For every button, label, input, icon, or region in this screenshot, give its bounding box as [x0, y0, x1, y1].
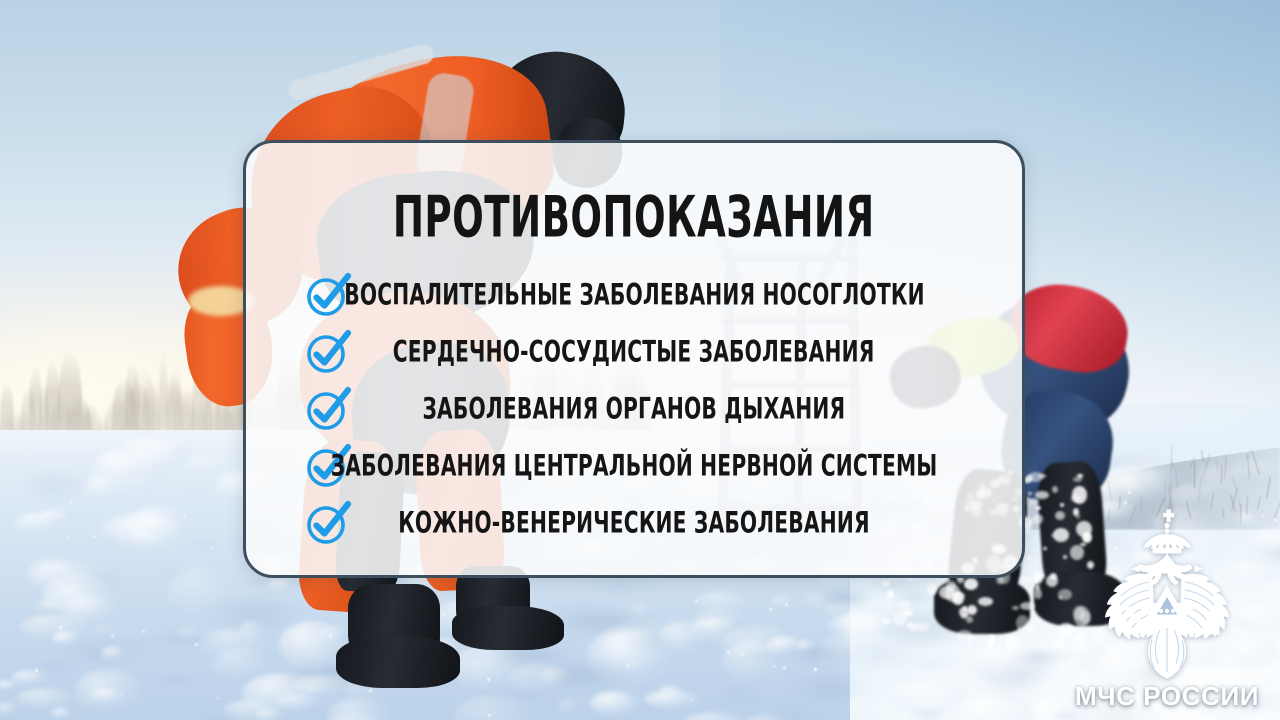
check-circle-icon — [304, 385, 352, 433]
check-circle-icon — [304, 499, 352, 547]
emercom-logo: МЧС РОССИИ — [1072, 477, 1262, 712]
list-item-label: ЗАБОЛЕВАНИЯ ЦЕНТРАЛЬНОЙ НЕРВНОЙ СИСТЕМЫ — [331, 451, 938, 481]
list-item: ЗАБОЛЕВАНИЯ ЦЕНТРАЛЬНОЙ НЕРВНОЙ СИСТЕМЫ — [272, 437, 996, 494]
contraindications-list: ВОСПАЛИТЕЛЬНЫЕ ЗАБОЛЕВАНИЯ НОСОГЛОТКИСЕР… — [272, 266, 996, 551]
list-item: СЕРДЕЧНО-СОСУДИСТЫЕ ЗАБОЛЕВАНИЯ — [272, 323, 996, 380]
emercom-double-headed-eagle-emblem — [1092, 504, 1242, 679]
list-item: ВОСПАЛИТЕЛЬНЫЕ ЗАБОЛЕВАНИЯ НОСОГЛОТКИ — [272, 266, 996, 323]
rescuer-boot-right-sole — [452, 606, 564, 650]
list-item-label: ВОСПАЛИТЕЛЬНЫЕ ЗАБОЛЕВАНИЯ НОСОГЛОТКИ — [344, 280, 925, 310]
list-item-label: СЕРДЕЧНО-СОСУДИСТЫЕ ЗАБОЛЕВАНИЯ — [393, 337, 875, 367]
list-item: КОЖНО-ВЕНЕРИЧЕСКИЕ ЗАБОЛЕВАНИЯ — [272, 494, 996, 551]
list-item-label: КОЖНО-ВЕНЕРИЧЕСКИЕ ЗАБОЛЕВАНИЯ — [398, 508, 870, 538]
list-item: ЗАБОЛЕВАНИЯ ОРГАНОВ ДЫХАНИЯ — [272, 380, 996, 437]
page-title: ПРОТИВОПОКАЗАНИЯ — [393, 189, 875, 246]
list-item-label: ЗАБОЛЕВАНИЯ ОРГАНОВ ДЫХАНИЯ — [423, 394, 846, 424]
check-circle-icon — [304, 328, 352, 376]
contraindications-card: ПРОТИВОПОКАЗАНИЯ ВОСПАЛИТЕЛЬНЫЕ ЗАБОЛЕВА… — [243, 140, 1025, 578]
logo-text: МЧС РОССИИ — [1075, 681, 1259, 712]
rescuer-boot-left-sole — [336, 636, 460, 688]
